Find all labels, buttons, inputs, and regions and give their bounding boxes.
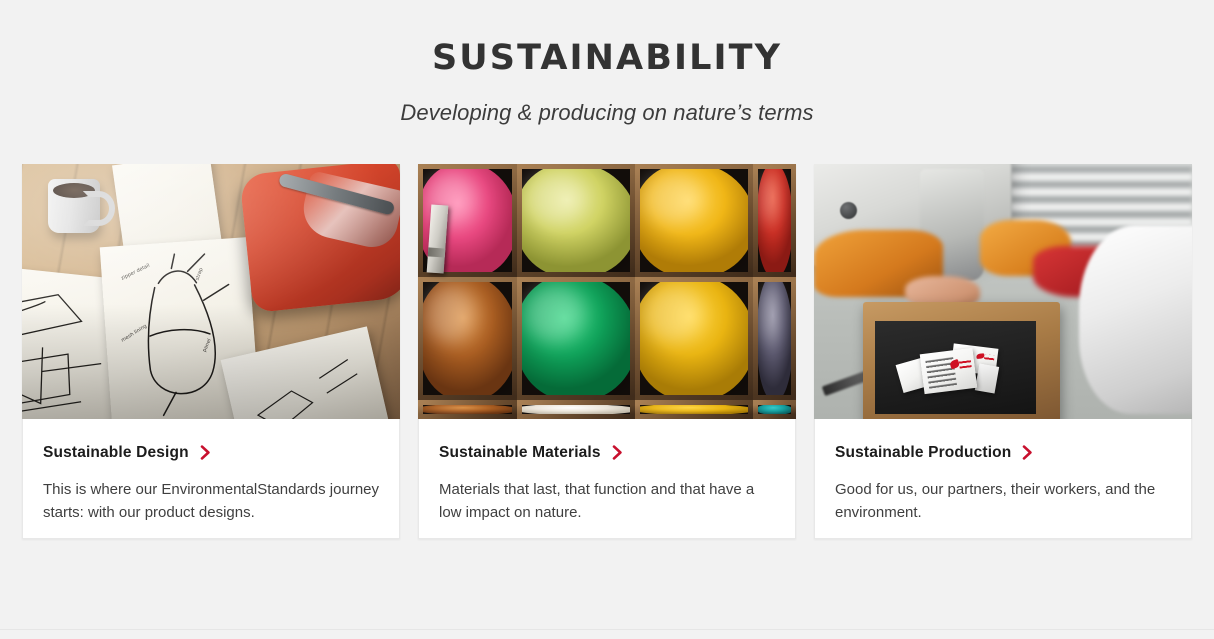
card-image-sustainable-production xyxy=(814,164,1192,419)
card-body: Sustainable Production Good for us, our … xyxy=(815,419,1191,538)
wool-cell-red xyxy=(753,164,796,277)
card-image-sustainable-materials xyxy=(418,164,796,419)
wool-cell-cream xyxy=(517,400,635,419)
chevron-right-icon[interactable] xyxy=(1022,445,1033,460)
page-subtitle: Developing & producing on nature’s terms xyxy=(0,76,1214,124)
cardboard-box xyxy=(863,302,1060,419)
brand-wordmark xyxy=(984,354,995,361)
factory-production-photo xyxy=(814,164,1192,419)
dyed-wool-photo xyxy=(418,164,796,419)
wool-cell-rust-lower xyxy=(418,400,517,419)
card-link-sustainable-production[interactable]: Sustainable Production xyxy=(835,445,1171,461)
card-title: Sustainable Materials xyxy=(439,445,601,461)
wool-cell-slate xyxy=(753,277,796,400)
card-sustainable-production[interactable]: Sustainable Production Good for us, our … xyxy=(814,164,1192,539)
page-header: SUSTAINABILITY Developing & producing on… xyxy=(0,0,1214,124)
card-sustainable-design[interactable]: zipper detail strap mesh lining panel xyxy=(22,164,400,539)
wool-cell-yellow xyxy=(635,277,753,400)
sustainability-page: SUSTAINABILITY Developing & producing on… xyxy=(0,0,1214,639)
wooden-crate-grid xyxy=(418,164,796,419)
card-description: This is where our EnvironmentalStandards… xyxy=(43,478,379,525)
card-sustainable-materials[interactable]: Sustainable Materials Materials that las… xyxy=(418,164,796,539)
photo-lighting-overlay xyxy=(22,164,400,419)
wool-cell-gold xyxy=(635,164,753,277)
chevron-right-icon[interactable] xyxy=(200,445,211,460)
card-link-sustainable-design[interactable]: Sustainable Design xyxy=(43,445,379,461)
card-description: Materials that last, that function and t… xyxy=(439,478,775,525)
fjallraven-logo xyxy=(949,358,972,378)
card-body: Sustainable Materials Materials that las… xyxy=(419,419,795,538)
wool-cell-rust xyxy=(418,277,517,400)
card-description: Good for us, our partners, their workers… xyxy=(835,478,1171,525)
wool-cell-teal xyxy=(753,400,796,419)
wool-cell-lime xyxy=(517,164,635,277)
wool-cell-green xyxy=(517,277,635,400)
page-title: SUSTAINABILITY xyxy=(0,41,1214,76)
card-body: Sustainable Design This is where our Env… xyxy=(23,419,399,538)
card-title: Sustainable Production xyxy=(835,445,1011,461)
card-link-sustainable-materials[interactable]: Sustainable Materials xyxy=(439,445,775,461)
card-image-sustainable-design: zipper detail strap mesh lining panel xyxy=(22,164,400,419)
card-title: Sustainable Design xyxy=(43,445,189,461)
card-grid: zipper detail strap mesh lining panel xyxy=(22,164,1192,539)
white-fabric-pile xyxy=(1079,225,1192,414)
chevron-right-icon[interactable] xyxy=(612,445,623,460)
wool-cell-yellow-lower xyxy=(635,400,753,419)
arctic-fox-mark-icon xyxy=(976,353,984,359)
design-sketches-photo: zipper detail strap mesh lining panel xyxy=(22,164,400,419)
brand-wordmark xyxy=(959,358,972,368)
page-bottom-divider xyxy=(0,629,1214,630)
hang-tag-front xyxy=(920,348,978,395)
